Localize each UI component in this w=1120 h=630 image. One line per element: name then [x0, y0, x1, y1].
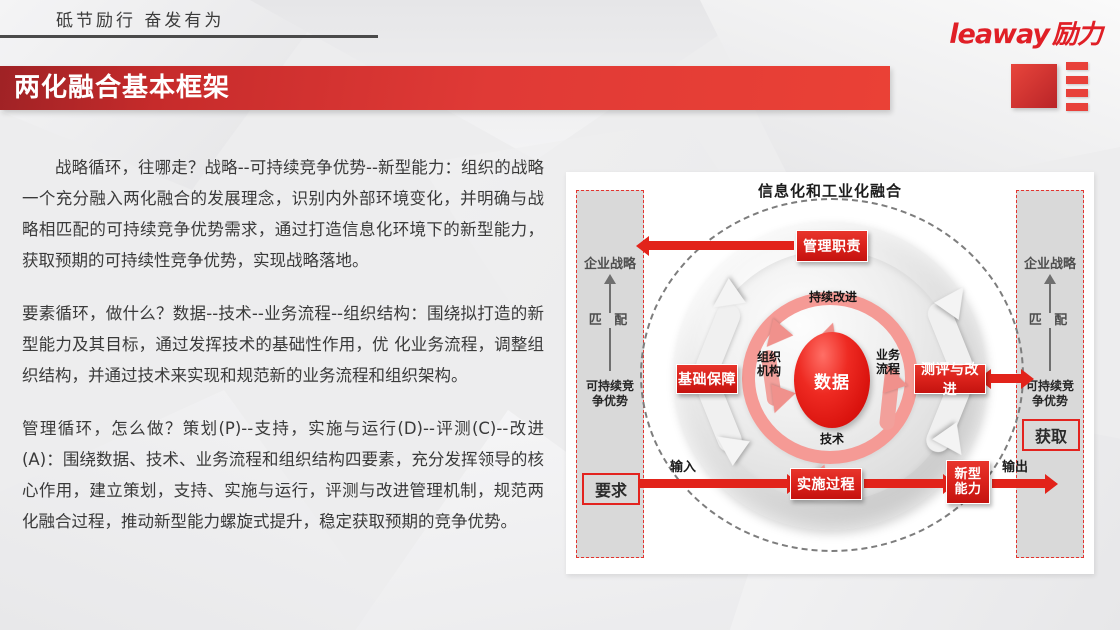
label-business-line-2: 流程	[872, 362, 904, 376]
label-organization: 组织 机构	[752, 350, 786, 378]
decoration-bar-4	[1066, 103, 1088, 111]
right-panel-strategy-label: 企业战略	[1017, 253, 1083, 272]
framework-diagram: 信息化和工业化融合 企业战略 匹 配 可持续竞 争优势 要求 企业战略 匹 配 …	[566, 172, 1094, 574]
box-new-capability: 新型 能力	[946, 460, 990, 504]
slide-title-bar: 两化融合基本框架	[0, 66, 890, 110]
left-advantage-line-1: 可持续竞	[577, 379, 643, 394]
left-panel-strategy-label: 企业战略	[577, 253, 643, 272]
capability-line-1: 新型	[954, 467, 981, 482]
label-technology: 技术	[806, 432, 858, 446]
logo-latin-text: leaway	[949, 19, 1049, 50]
requirement-box: 要求	[582, 473, 640, 505]
slide-canvas: 砥节励行 奋发有为 leaway 励力 两化融合基本框架 战略循环，往哪走？战略…	[0, 0, 1120, 630]
arrow-input-to-implementation	[638, 479, 788, 488]
paragraph-element-cycle: 要素循环，做什么？数据--技术--业务流程--组织结构：围绕拟打造的新型能力及其…	[22, 298, 544, 391]
box-foundation-support: 基础保障	[676, 364, 738, 394]
right-advantage-line-2: 争优势	[1017, 394, 1083, 409]
decoration-bar-2	[1066, 76, 1088, 84]
arrow-implementation-to-capability	[864, 479, 944, 488]
acquire-box: 获取	[1022, 419, 1080, 451]
box-evaluation-improvement: 测评与改进	[914, 364, 986, 394]
arrow-capability-to-output	[992, 479, 1046, 488]
body-text-column: 战略循环，往哪走？战略--可持续竞争优势--新型能力：组织的战略一个充分融入两化…	[22, 152, 544, 559]
header-tagline: 砥节励行 奋发有为	[56, 6, 224, 31]
label-organization-line-1: 组织	[752, 350, 786, 364]
arrow-management-to-strategy	[648, 241, 794, 250]
label-business-process: 业务 流程	[872, 348, 904, 376]
left-panel-advantage-label: 可持续竞 争优势	[577, 379, 643, 409]
decoration-bar-3	[1066, 89, 1088, 97]
decoration-square	[1011, 64, 1057, 108]
label-business-line-1: 业务	[872, 348, 904, 362]
paragraph-strategy-cycle: 战略循环，往哪走？战略--可持续竞争优势--新型能力：组织的战略一个充分融入两化…	[22, 152, 544, 276]
header-divider	[0, 35, 378, 38]
box-management-responsibility: 管理职责	[796, 230, 868, 262]
label-organization-line-2: 机构	[752, 364, 786, 378]
left-panel-match-label: 匹 配	[577, 309, 643, 328]
decoration-bars	[1066, 62, 1088, 111]
company-logo: leaway 励力	[949, 14, 1102, 51]
data-core-oval: 数据	[794, 332, 870, 428]
capability-line-2: 能力	[954, 482, 981, 497]
flow-label-output: 输出	[1002, 456, 1028, 475]
logo-chinese-text: 励力	[1052, 14, 1102, 51]
left-advantage-line-2: 争优势	[577, 394, 643, 409]
arrow-evaluation-to-acquire	[990, 374, 1022, 383]
flow-label-input: 输入	[670, 456, 696, 475]
decoration-bar-1	[1066, 62, 1088, 70]
box-implementation-process: 实施过程	[790, 468, 862, 500]
data-core-label: 数据	[814, 368, 850, 393]
label-continuous-improvement: 持续改进	[788, 290, 878, 304]
right-panel-match-label: 匹 配	[1017, 309, 1083, 328]
page-title: 两化融合基本框架	[0, 66, 890, 110]
paragraph-management-cycle: 管理循环，怎么做？策划(P)--支持，实施与运行(D)--评测(C)--改进(A…	[22, 413, 544, 537]
left-strategy-panel: 企业战略 匹 配 可持续竞 争优势 要求	[576, 190, 644, 558]
